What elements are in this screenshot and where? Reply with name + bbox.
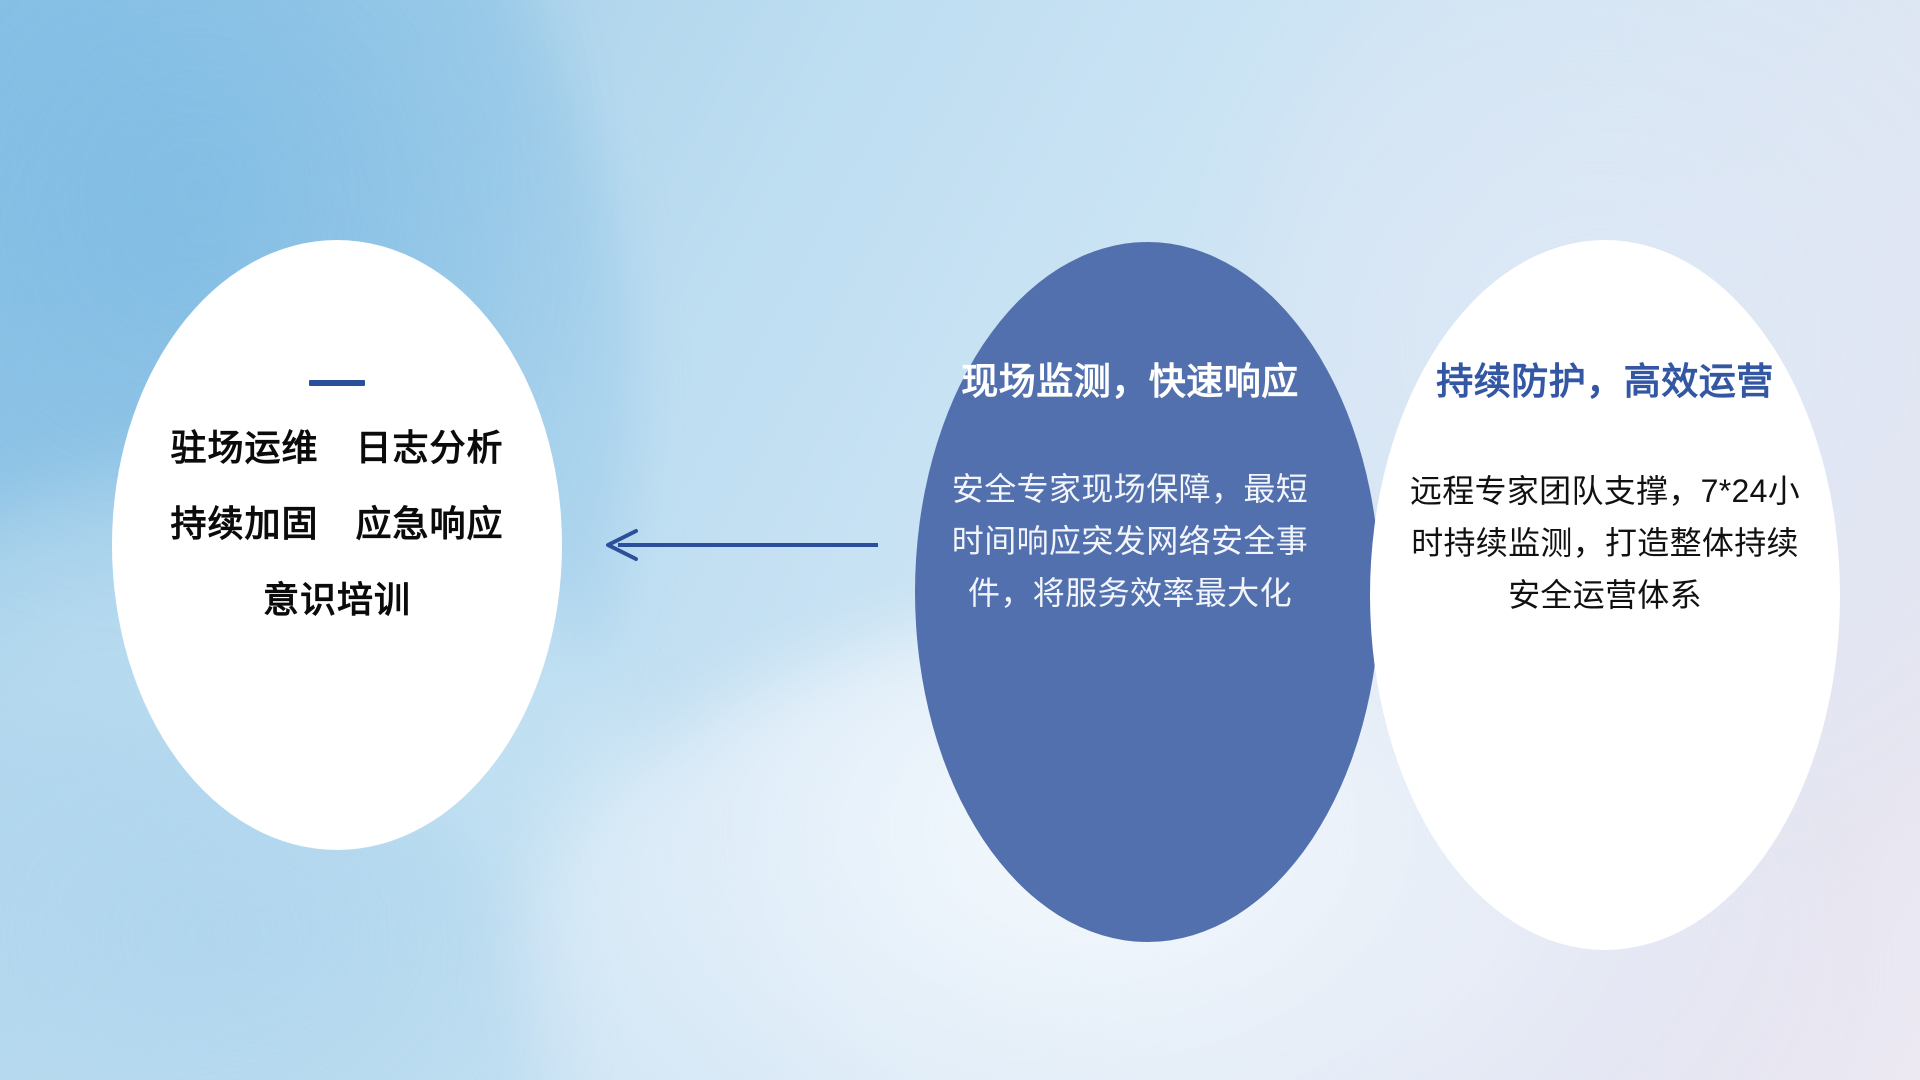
left-circle-line-3: 意识培训 bbox=[112, 582, 562, 618]
left-circle-line-1: 驻场运维 日志分析 bbox=[112, 430, 562, 466]
right-circle-body: 远程专家团队支撑，7*24小时持续监测，打造整体持续安全运营体系 bbox=[1372, 466, 1838, 621]
left-circle-content: 驻场运维 日志分析 持续加固 应急响应 意识培训 bbox=[112, 380, 562, 618]
middle-circle-title: 现场监测，快速响应 bbox=[920, 360, 1340, 404]
middle-circle-content: 现场监测，快速响应 安全专家现场保障，最短时间响应突发网络安全事件，将服务效率最… bbox=[920, 360, 1340, 620]
slide-canvas: 驻场运维 日志分析 持续加固 应急响应 意识培训 现场监测，快速响应 安全专家现… bbox=[0, 0, 1920, 1080]
accent-dash-divider bbox=[309, 380, 365, 386]
right-circle-title: 持续防护，高效运营 bbox=[1372, 360, 1838, 404]
middle-circle-body: 安全专家现场保障，最短时间响应突发网络安全事件，将服务效率最大化 bbox=[920, 464, 1340, 619]
arrow-left-icon bbox=[600, 520, 880, 570]
left-circle-line-2: 持续加固 应急响应 bbox=[112, 506, 562, 542]
right-circle-content: 持续防护，高效运营 远程专家团队支撑，7*24小时持续监测，打造整体持续安全运营… bbox=[1372, 360, 1838, 622]
